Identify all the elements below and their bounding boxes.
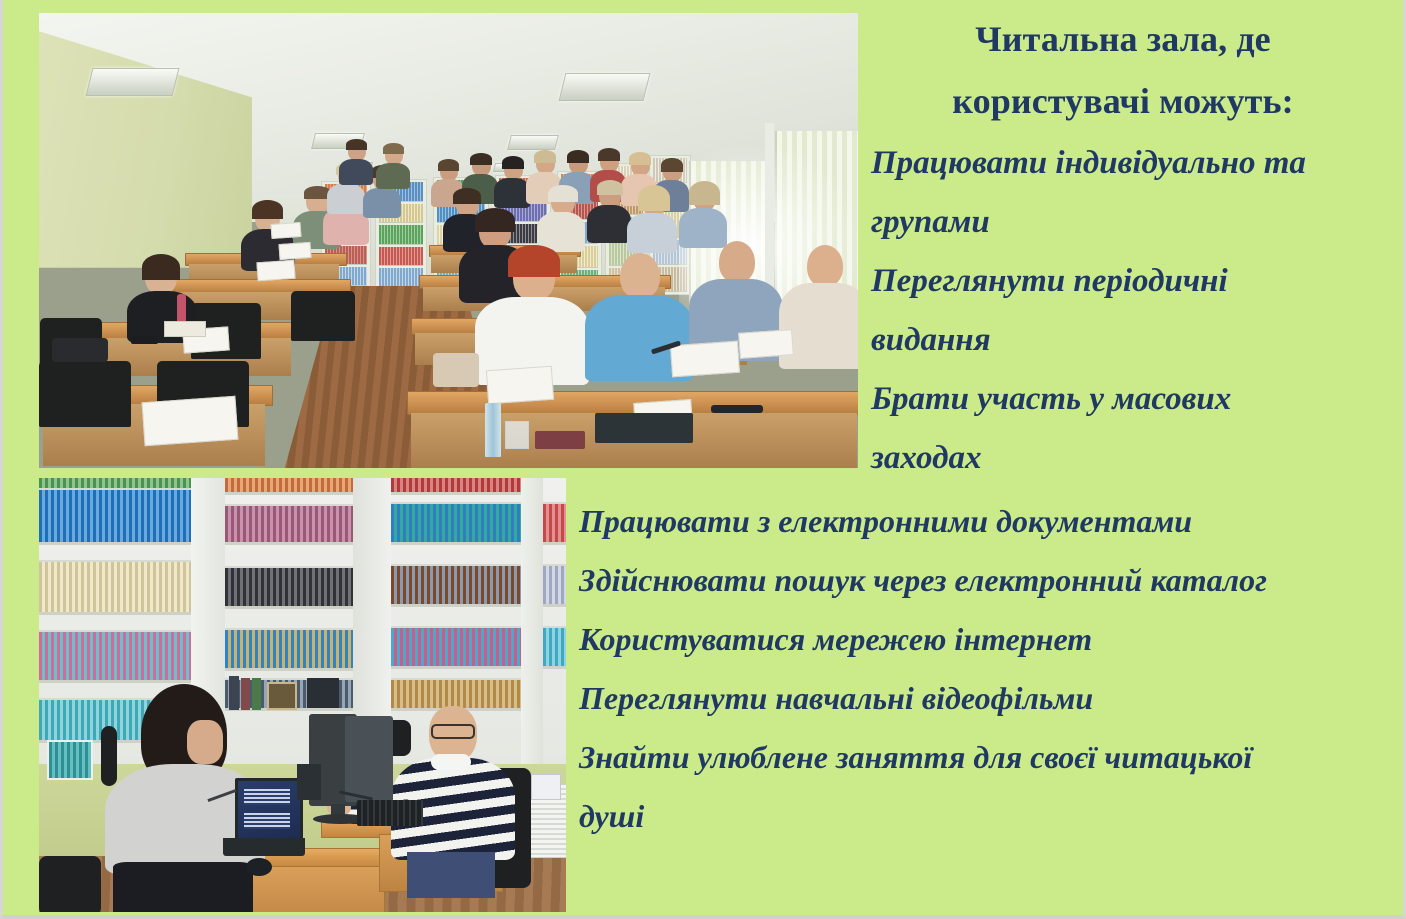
book-row	[39, 488, 191, 545]
book-row	[543, 564, 566, 607]
handbag	[433, 353, 479, 387]
list-item: Знайти улюблене заняття для своєї читаць…	[579, 728, 1319, 846]
page-title: Читальна зала, де користувачі можуть:	[873, 8, 1373, 132]
lower-capability-list: Працювати з електронними документами Зді…	[579, 492, 1319, 846]
ceiling-light-icon	[507, 135, 559, 150]
bag	[52, 338, 108, 362]
paper	[738, 329, 794, 359]
glass	[505, 421, 529, 449]
book-row	[543, 502, 566, 545]
list-item: Працювати індивідуально та групами	[871, 134, 1341, 252]
laptop-base	[223, 838, 305, 856]
water-bottle	[485, 403, 501, 457]
list-item: Працювати з електронними документами	[579, 492, 1319, 551]
title-line-2: користувачі можуть:	[873, 70, 1373, 132]
paper	[271, 222, 302, 239]
book-row	[543, 626, 566, 669]
wall-poster	[47, 740, 93, 780]
wall-poster	[531, 774, 561, 800]
chair	[291, 291, 355, 341]
paper	[670, 341, 740, 378]
person	[679, 185, 729, 247]
glasses-icon	[431, 724, 475, 739]
person	[475, 253, 591, 381]
box	[164, 321, 206, 337]
mouse	[246, 858, 272, 876]
shelf-divider	[521, 478, 543, 772]
slide-canvas: Читальна зала, де користувачі можуть: Пр…	[0, 0, 1406, 919]
list-item: Користуватися мережею інтернет	[579, 610, 1319, 669]
picture-frame	[267, 682, 297, 710]
paper	[486, 366, 554, 405]
paper	[278, 242, 311, 260]
title-line-1: Читальна зала, де	[873, 8, 1373, 70]
ceiling-light-icon	[86, 68, 180, 96]
list-item: Здійснювати пошук через електронний ката…	[579, 551, 1319, 610]
paper	[142, 396, 239, 446]
book-row	[225, 504, 353, 545]
laptop	[595, 413, 693, 443]
book-row	[391, 502, 521, 545]
person-at-computer	[391, 702, 523, 892]
monitor-screen	[345, 716, 393, 802]
binder	[307, 678, 339, 708]
book-row	[391, 626, 521, 669]
upper-capability-list: Працювати індивідуально та групами Перег…	[871, 134, 1341, 488]
book-row	[225, 478, 357, 495]
list-item: Переглянути періодичні видання	[871, 252, 1341, 370]
ceiling-light-icon	[559, 73, 651, 101]
book-row	[39, 630, 191, 683]
computer-workstations-photo	[39, 478, 566, 912]
person	[339, 141, 375, 183]
book-row	[391, 564, 521, 607]
list-item: Переглянути навчальні відеофільми	[579, 669, 1319, 728]
chair	[39, 361, 131, 427]
reading-hall-photo	[39, 13, 858, 468]
person	[627, 189, 679, 251]
book-row	[39, 560, 191, 615]
person	[537, 188, 587, 248]
phone	[131, 336, 158, 344]
person	[376, 145, 412, 187]
book-row	[225, 628, 353, 671]
list-item: Брати участь у масових заходах	[871, 370, 1341, 488]
book-row	[225, 566, 353, 609]
screen-content	[244, 813, 290, 829]
pen	[711, 405, 763, 413]
laptop-screen	[235, 778, 303, 846]
chair	[39, 856, 101, 912]
keyboard	[357, 800, 423, 826]
pencil-case	[535, 431, 585, 449]
paper	[256, 260, 295, 282]
screen-content	[244, 789, 290, 805]
pc-tower	[297, 764, 321, 800]
book-row	[391, 478, 521, 495]
